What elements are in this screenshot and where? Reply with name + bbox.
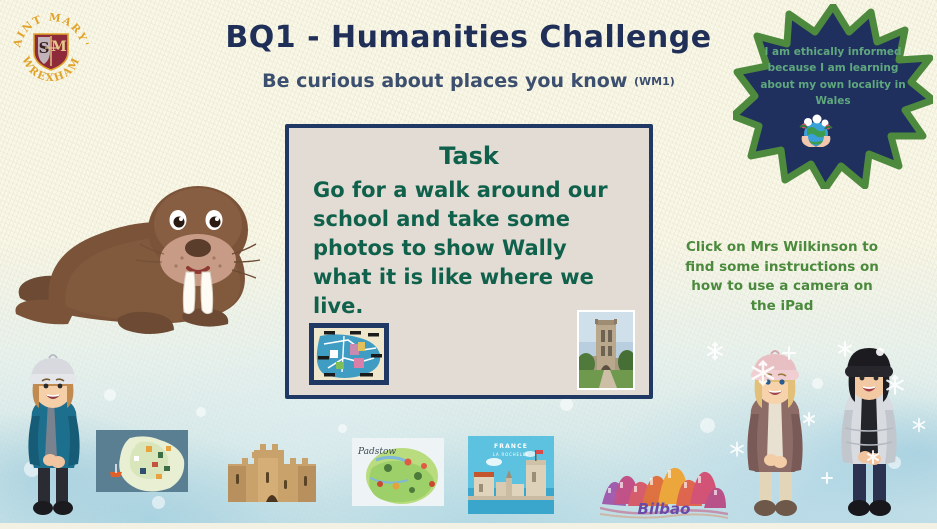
walrus-illustration — [6, 168, 268, 348]
bitmoji-avatar-black-hat[interactable] — [828, 340, 910, 524]
task-heading: Task — [289, 142, 649, 170]
illustrated-town-map-thumbnail[interactable] — [309, 323, 389, 385]
bilbao-label: Bilbao — [624, 500, 704, 518]
instruction-text: Click on Mrs Wilkinson to find some inst… — [683, 238, 881, 316]
task-body: Go for a walk around our school and take… — [313, 176, 625, 321]
bitmoji-avatar-teal-coat[interactable] — [14, 350, 92, 522]
church-tower-photo-thumbnail[interactable] — [577, 310, 635, 390]
task-box: Task Go for a walk around our school and… — [285, 124, 653, 399]
slide-bottom-edge — [0, 523, 937, 529]
padstow-map-illustration: Padstow — [352, 438, 444, 506]
ireland-map-illustration — [96, 430, 188, 492]
svg-text:LA ROCHELLE: LA ROCHELLE — [493, 452, 529, 457]
page-subtitle-text: Be curious about places you know — [262, 70, 627, 92]
earth-in-hands-icon — [795, 112, 837, 152]
castle-illustration — [222, 432, 322, 508]
starburst-text: I am ethically informed because I am lea… — [757, 44, 909, 109]
france-la-rochelle-poster: FRANCE LA ROCHELLE — [468, 436, 554, 514]
page-subtitle-code: (WM1) — [634, 75, 675, 88]
starburst-badge-icon: I am ethically informed because I am lea… — [733, 4, 933, 189]
svg-text:FRANCE: FRANCE — [494, 443, 528, 450]
svg-text:Padstow: Padstow — [357, 447, 396, 457]
bitmoji-avatar-pink-hat[interactable] — [735, 344, 815, 524]
slide-canvas: SAINT MARY'S WREXHAM S M BQ1 - Humanitie… — [0, 0, 937, 529]
